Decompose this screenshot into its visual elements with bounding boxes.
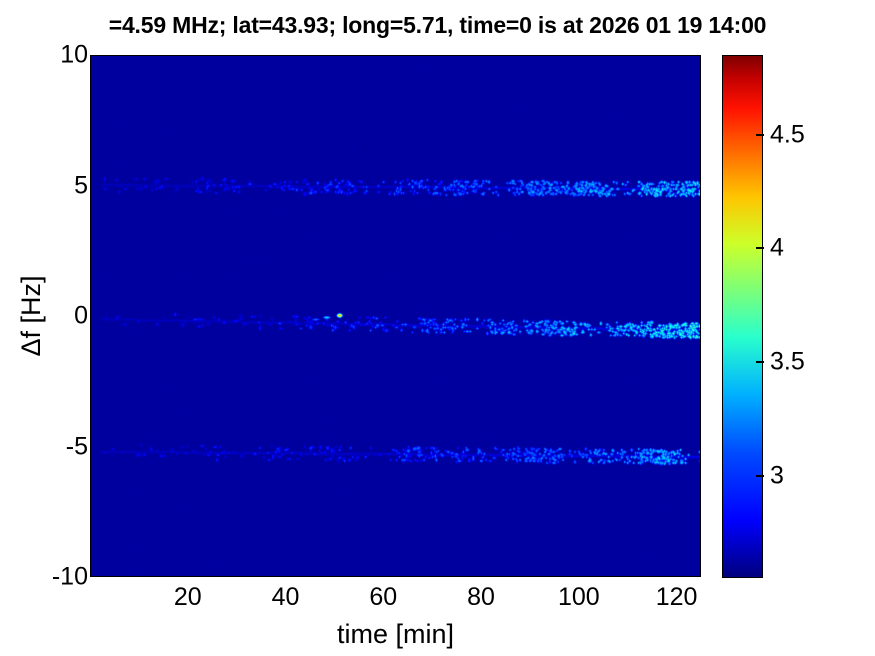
x-axis: 20406080100120 time [min] <box>90 577 701 656</box>
y-tick-label: -10 <box>10 563 88 592</box>
colorbar-tick-label: 3.5 <box>770 347 805 376</box>
colorbar[interactable]: 33.544.5 <box>722 55 872 578</box>
colorbar-tick-label: 4 <box>770 234 784 263</box>
spectrogram-image <box>91 56 700 576</box>
x-tick-label: 120 <box>656 583 698 612</box>
spectrogram-axes[interactable] <box>90 55 701 577</box>
y-tick-label: 0 <box>10 302 88 331</box>
colorbar-tick-mark <box>756 134 764 136</box>
y-tick-label: -5 <box>10 432 88 461</box>
figure-canvas: =4.59 MHz; lat=43.93; long=5.71, time=0 … <box>0 0 875 656</box>
colorbar-tick-label: 3 <box>770 461 784 490</box>
colorbar-tick-mark <box>756 475 764 477</box>
figure-title: =4.59 MHz; lat=43.93; long=5.71, time=0 … <box>0 12 875 39</box>
colorbar-tick-label: 4.5 <box>770 120 805 149</box>
x-tick-label: 20 <box>174 583 202 612</box>
x-axis-label: time [min] <box>90 619 701 650</box>
y-tick-label: 5 <box>10 171 88 200</box>
y-tick-label: 10 <box>10 41 88 70</box>
colorbar-tick-mark <box>756 247 764 249</box>
y-axis: Δf [Hz] 1050-5-10 <box>0 55 88 577</box>
x-tick-label: 60 <box>369 583 397 612</box>
x-tick-label: 40 <box>272 583 300 612</box>
colorbar-tick-mark <box>756 361 764 363</box>
x-tick-label: 80 <box>467 583 495 612</box>
x-tick-label: 100 <box>558 583 600 612</box>
